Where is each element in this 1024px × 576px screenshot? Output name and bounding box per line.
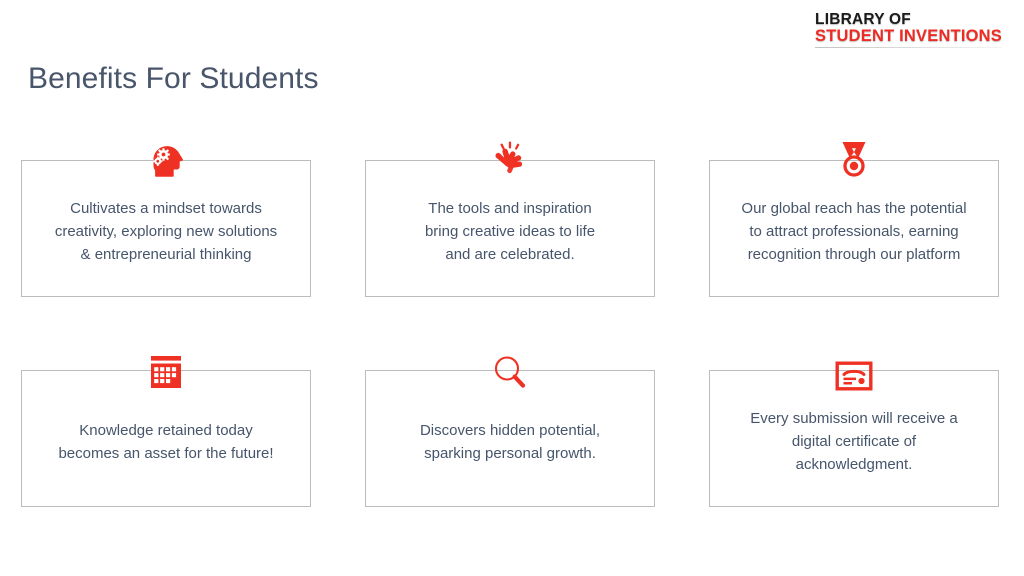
benefit-card-mindset: Cultivates a mindset towards creativity,… (21, 160, 311, 297)
benefit-card-knowledge: Knowledge retained today becomes an asse… (21, 370, 311, 507)
benefit-card-global-reach: Our global reach has the potential to at… (709, 160, 999, 297)
benefit-card-celebrated: The tools and inspiration bring creative… (365, 160, 655, 297)
benefit-card-certificate: Every submission will receive a digital … (709, 370, 999, 507)
benefit-card-text: Every submission will receive a digital … (750, 407, 958, 476)
head-with-gears-icon (143, 138, 189, 184)
logo-line-library-of: LIBRARY OF (815, 12, 1002, 28)
benefit-card-text: Knowledge retained today becomes an asse… (58, 419, 273, 465)
benefit-card-text: Our global reach has the potential to at… (741, 197, 966, 266)
benefit-card-text: Cultivates a mindset towards creativity,… (55, 197, 277, 266)
benefit-card-text: The tools and inspiration bring creative… (425, 197, 595, 266)
benefit-card-text: Discovers hidden potential, sparking per… (420, 419, 600, 465)
magnifying-glass-icon (487, 348, 533, 394)
medal-icon (831, 138, 877, 184)
clapping-hands-icon (487, 138, 533, 184)
benefits-grid: Cultivates a mindset towards creativity,… (21, 160, 999, 507)
logo-underline (815, 47, 1002, 48)
calendar-icon (143, 348, 189, 394)
page-title: Benefits For Students (28, 62, 319, 96)
brand-logo: LIBRARY OF STUDENT INVENTIONS (815, 12, 1002, 48)
certificate-icon (831, 348, 877, 394)
logo-line-student-inventions: STUDENT INVENTIONS (815, 28, 1002, 45)
benefit-card-discovery: Discovers hidden potential, sparking per… (365, 370, 655, 507)
